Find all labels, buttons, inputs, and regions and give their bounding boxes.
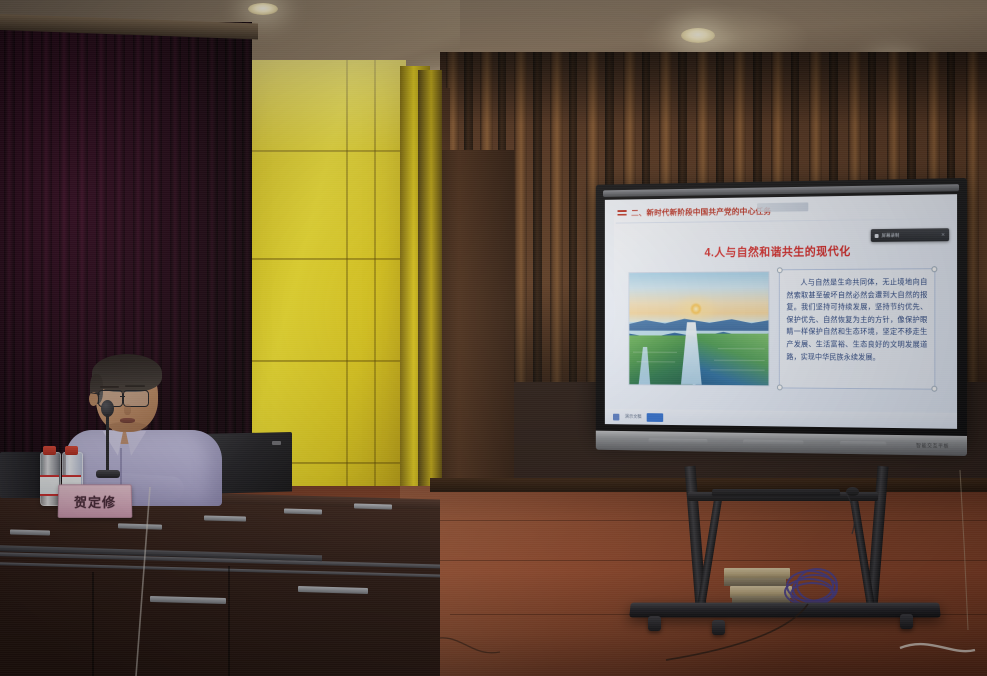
lecture-hall-scene: 二、新时代新阶段中国共产党的中心任务 4.人与自然和谐共生的现代化 <box>0 0 987 676</box>
speaker-mouth <box>120 418 135 423</box>
ceiling-downlight <box>248 3 278 15</box>
resize-handle-sw[interactable] <box>777 384 783 390</box>
cardboard-box-shadow <box>724 578 786 586</box>
slide-title: 4.人与自然和谐共生的现代化 <box>605 242 957 261</box>
resize-handle-ne[interactable] <box>931 266 937 272</box>
section-marker-icon <box>618 210 627 216</box>
header-chip <box>757 202 808 212</box>
podium-seam <box>92 572 94 676</box>
podium-drawer-handle[interactable] <box>354 503 392 509</box>
bottle-cap <box>43 446 56 455</box>
slide-text-placeholder[interactable]: 人与自然是生命共同体，无止境地向自然索取甚至破坏自然必然会遭到大自然的报复。我们… <box>779 268 935 390</box>
microphone-gooseneck <box>106 414 109 472</box>
record-icon <box>875 234 879 238</box>
ceiling-downlight <box>681 28 715 43</box>
resize-handle-se[interactable] <box>931 386 937 392</box>
yellow-panel-return <box>418 70 442 510</box>
glasses-bridge <box>120 396 125 397</box>
floor-baseboard <box>430 478 987 492</box>
slide-body-text: 人与自然是生命共同体，无止境地向自然索取甚至破坏自然必然会遭到大自然的报复。我们… <box>786 276 927 364</box>
interactive-display[interactable]: 二、新时代新阶段中国共产党的中心任务 4.人与自然和谐共生的现代化 <box>596 178 967 466</box>
presentation-slide[interactable]: 二、新时代新阶段中国共产党的中心任务 4.人与自然和谐共生的现代化 <box>605 194 957 429</box>
podium-front-panel <box>0 497 440 676</box>
cable-coil <box>782 566 844 606</box>
bottle-cap <box>65 446 78 455</box>
close-icon[interactable]: ✕ <box>941 232 945 238</box>
speaker-chin-shadow <box>106 422 148 432</box>
taskbar-active-window[interactable] <box>647 413 664 422</box>
header-divider <box>616 218 942 223</box>
podium-drawer-handle[interactable] <box>284 508 322 514</box>
resize-handle-nw[interactable] <box>777 267 783 273</box>
laptop-logo <box>272 441 281 445</box>
bottle-label <box>40 475 59 496</box>
popup-label: 屏幕录制 <box>881 232 899 238</box>
cart-caster <box>648 616 661 631</box>
keyboard[interactable] <box>712 489 841 496</box>
podium-seam <box>228 566 230 676</box>
side-monitor <box>0 452 44 498</box>
cart-base-platform <box>629 603 941 618</box>
presentation-app-icon[interactable] <box>613 413 619 420</box>
speaker-nose <box>124 404 131 415</box>
speaker-name-text: 贺定修 <box>74 492 116 511</box>
speaker-person <box>62 352 222 502</box>
speaker-name-card: 贺定修 <box>58 484 133 518</box>
cart-caster <box>900 614 913 629</box>
microphone-base <box>96 470 120 478</box>
screen-recording-popup[interactable]: 屏幕录制 ✕ <box>871 228 949 242</box>
slide-header-text: 二、新时代新阶段中国共产党的中心任务 <box>631 205 771 219</box>
taskbar-app-label: 演示文稿 <box>625 414 642 420</box>
display-screen[interactable]: 二、新时代新阶段中国共产党的中心任务 4.人与自然和谐共生的现代化 <box>605 194 957 429</box>
slide-landscape-image <box>628 271 769 386</box>
cart-caster <box>712 620 725 635</box>
display-brand-label: 智能交互平板 <box>916 442 949 449</box>
slide-section-header: 二、新时代新阶段中国共产党的中心任务 <box>618 205 772 219</box>
mouse[interactable] <box>846 487 859 496</box>
